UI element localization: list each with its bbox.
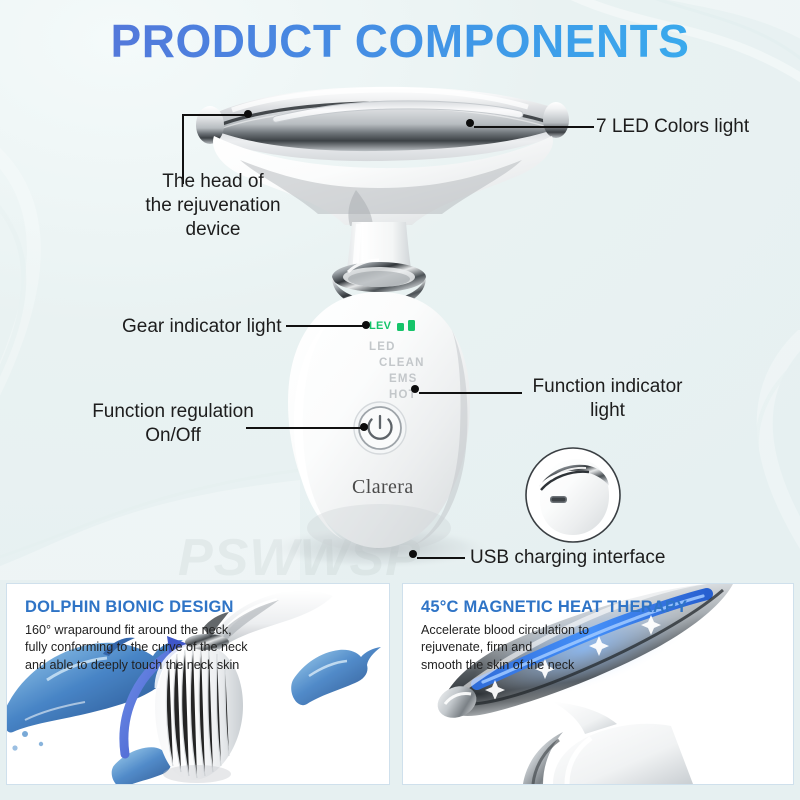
leader-dot-gear bbox=[362, 321, 370, 329]
mode-label-led: LED bbox=[369, 341, 396, 353]
panel-title-dolphin: DOLPHIN BIONIC DESIGN bbox=[25, 598, 234, 617]
infographic-canvas: PSWWSP PRODUCT COMPONENTS bbox=[0, 0, 800, 800]
level-indicator-label: LEV bbox=[369, 320, 391, 332]
panel-body-dolphin: 160° wraparound fit around the neck, ful… bbox=[25, 622, 248, 674]
leader-line-gear bbox=[286, 325, 366, 327]
mode-label-clean: CLEAN bbox=[379, 357, 425, 369]
leader-line-usb bbox=[417, 557, 465, 559]
mode-label-ems: EMS bbox=[389, 373, 418, 385]
callout-function-indicator-light: Function indicator light bbox=[520, 375, 695, 423]
callout-head-of-device: The head of the rejuvenation device bbox=[118, 170, 308, 241]
panel-body-heat: Accelerate blood circulation to rejuvena… bbox=[421, 622, 589, 674]
level-indicator-bars bbox=[397, 320, 415, 331]
leader-line-head-horizontal bbox=[182, 114, 248, 116]
callout-7-led-colors: 7 LED Colors light bbox=[596, 115, 796, 139]
leader-dot-usb bbox=[409, 550, 417, 558]
leader-line-function bbox=[419, 392, 522, 394]
callout-usb-charging: USB charging interface bbox=[470, 546, 720, 570]
leader-dot-regulation bbox=[360, 423, 368, 431]
panel-title-heat: 45°C MAGNETIC HEAT THERAPY bbox=[421, 598, 687, 617]
panel-magnetic-heat-therapy: 45°C MAGNETIC HEAT THERAPY Accelerate bl… bbox=[402, 583, 794, 785]
callout-function-regulation: Function regulation On/Off bbox=[78, 400, 268, 448]
callout-gear-indicator-light: Gear indicator light bbox=[122, 315, 292, 339]
leader-line-led bbox=[474, 126, 594, 128]
panel-dolphin-bionic-design: DOLPHIN BIONIC DESIGN 160° wraparound fi… bbox=[6, 583, 390, 785]
leader-dot-function bbox=[411, 385, 419, 393]
brand-logo: Clarera bbox=[352, 476, 414, 499]
leader-dot-head bbox=[244, 110, 252, 118]
leader-dot-led bbox=[466, 119, 474, 127]
